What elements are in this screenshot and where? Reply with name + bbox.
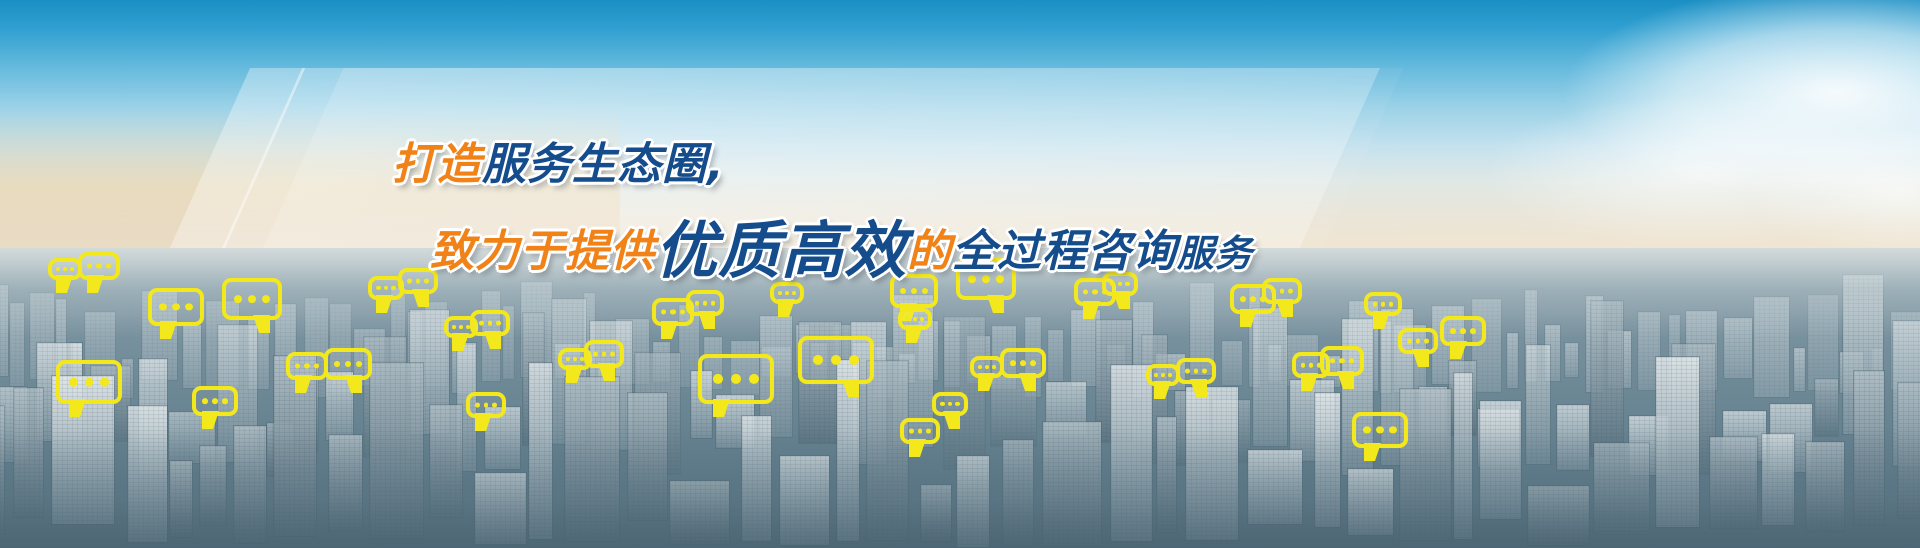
speech-bubble-icon — [222, 278, 282, 320]
speech-bubble-icon — [466, 392, 506, 418]
speech-bubble-icon — [56, 360, 122, 404]
speech-bubble-icon — [1352, 412, 1408, 448]
speech-bubble-tail — [1276, 299, 1293, 317]
speech-bubble-icon — [1176, 358, 1216, 384]
speech-bubble-dots — [1266, 289, 1298, 294]
speech-bubble-tail — [1450, 341, 1467, 359]
speech-bubble-dots — [894, 288, 934, 294]
speech-bubble-tail — [978, 373, 995, 391]
speech-bubble-tail — [69, 399, 86, 417]
speech-bubble-icon — [78, 252, 120, 280]
speech-bubble-icon — [932, 392, 968, 416]
speech-bubble-icon — [900, 418, 940, 444]
speech-bubble-icon — [686, 290, 724, 316]
speech-bubble-dots — [196, 398, 234, 404]
speech-bubble-icon — [1398, 328, 1438, 354]
speech-bubble-dots — [328, 361, 368, 367]
speech-bubble-dots — [1324, 358, 1360, 363]
speech-bubble-icon — [970, 356, 1004, 378]
speech-bubble-tail — [475, 413, 492, 431]
speech-bubble-icon — [1262, 278, 1302, 304]
speech-bubble-tail — [598, 363, 615, 381]
building — [1794, 348, 1805, 391]
speech-bubble-dots — [60, 378, 118, 387]
speech-bubble-icon — [148, 288, 204, 326]
speech-bubble-tail — [987, 295, 1004, 313]
speech-bubble-dots — [1444, 328, 1482, 334]
speech-bubble-dots — [974, 365, 1000, 369]
speech-bubble-dots — [152, 303, 200, 310]
speech-bubble-dots — [960, 275, 1012, 283]
speech-bubble-tail — [484, 331, 501, 349]
hero-banner: 打造服务生态圈, 致力于提供优质高效的全过程咨询服务 — [0, 0, 1920, 548]
speech-bubble-icon — [398, 268, 438, 294]
speech-bubble-tail — [1412, 349, 1429, 367]
speech-bubble-tail — [1083, 301, 1100, 319]
speech-bubble-tail — [1190, 379, 1207, 397]
speech-bubble-icon — [192, 386, 238, 416]
speech-bubble-tail — [713, 399, 730, 417]
speech-bubble-dots — [774, 291, 800, 295]
speech-bubble-dots — [1106, 282, 1134, 286]
speech-bubble-icon — [48, 258, 82, 280]
speech-bubble-dots — [372, 286, 400, 290]
speech-bubble-tail — [295, 375, 312, 393]
speech-bubble-tail — [160, 321, 177, 339]
speech-bubble-icon — [584, 340, 624, 368]
speech-bubble-dots — [1004, 360, 1042, 366]
city-fog — [0, 428, 1920, 548]
speech-bubble-tail — [778, 299, 795, 317]
speech-bubble-dots — [702, 374, 770, 384]
speech-bubble-tail — [1019, 373, 1036, 391]
diagonal-light-panel-inner — [257, 68, 1404, 263]
speech-bubble-icon — [1102, 272, 1138, 296]
speech-bubble-dots — [52, 267, 78, 271]
speech-bubble-tail — [906, 325, 923, 343]
speech-bubble-tail — [943, 411, 960, 429]
speech-bubble-tail — [1364, 443, 1381, 461]
building — [1565, 343, 1578, 377]
speech-bubble-icon — [470, 310, 510, 336]
speech-bubble-tail — [698, 311, 715, 329]
speech-bubble-icon — [956, 258, 1016, 300]
speech-bubble-dots — [904, 429, 936, 434]
speech-bubble-tail — [87, 275, 104, 293]
speech-bubble-dots — [82, 263, 116, 268]
speech-bubble-tail — [1240, 309, 1257, 327]
building — [1222, 341, 1242, 385]
building — [1507, 333, 1518, 388]
speech-bubble-dots — [936, 402, 964, 406]
speech-bubble-dots — [1368, 302, 1398, 307]
speech-bubble-tail — [253, 315, 270, 333]
speech-bubble-icon — [1146, 364, 1180, 386]
speech-bubble-icon — [324, 348, 372, 380]
speech-bubble-dots — [802, 355, 870, 365]
speech-bubble-dots — [226, 295, 278, 303]
speech-bubble-tail — [1373, 311, 1390, 329]
speech-bubble-dots — [1150, 373, 1176, 377]
speech-bubble-tail — [1337, 371, 1354, 389]
speech-bubble-dots — [290, 363, 324, 368]
speech-bubble-tail — [661, 321, 678, 339]
speech-bubble-tail — [412, 289, 429, 307]
speech-bubble-icon — [770, 282, 804, 304]
speech-bubble-tail — [1301, 373, 1318, 391]
speech-bubble-dots — [1402, 339, 1434, 344]
speech-bubble-icon — [1364, 292, 1402, 316]
speech-bubble-dots — [902, 317, 928, 321]
speech-bubble-dots — [656, 309, 690, 314]
speech-bubble-icon — [890, 274, 938, 308]
speech-bubble-dots — [1180, 369, 1212, 374]
speech-bubble-tail — [345, 375, 362, 393]
speech-bubble-dots — [474, 321, 506, 326]
speech-bubble-tail — [1113, 291, 1130, 309]
speech-bubble-icon — [798, 336, 874, 384]
speech-bubble-tail — [566, 365, 583, 383]
speech-bubble-tail — [909, 439, 926, 457]
speech-bubble-icon — [1000, 348, 1046, 378]
speech-bubble-dots — [470, 403, 502, 408]
speech-bubble-tail — [56, 275, 73, 293]
speech-bubble-dots — [690, 301, 720, 306]
speech-bubble-dots — [1356, 426, 1404, 433]
speech-bubble-tail — [202, 411, 219, 429]
speech-bubble-tail — [376, 295, 393, 313]
speech-bubble-dots — [588, 352, 620, 357]
speech-bubble-icon — [898, 308, 932, 330]
speech-bubble-icon — [1440, 316, 1486, 346]
speech-bubble-icon — [286, 352, 328, 380]
speech-bubble-tail — [452, 333, 469, 351]
speech-bubble-tail — [842, 379, 859, 397]
speech-bubble-tail — [1154, 381, 1171, 399]
speech-bubble-dots — [402, 279, 434, 284]
speech-bubble-icon — [1320, 346, 1364, 376]
speech-bubble-icon — [698, 354, 774, 404]
